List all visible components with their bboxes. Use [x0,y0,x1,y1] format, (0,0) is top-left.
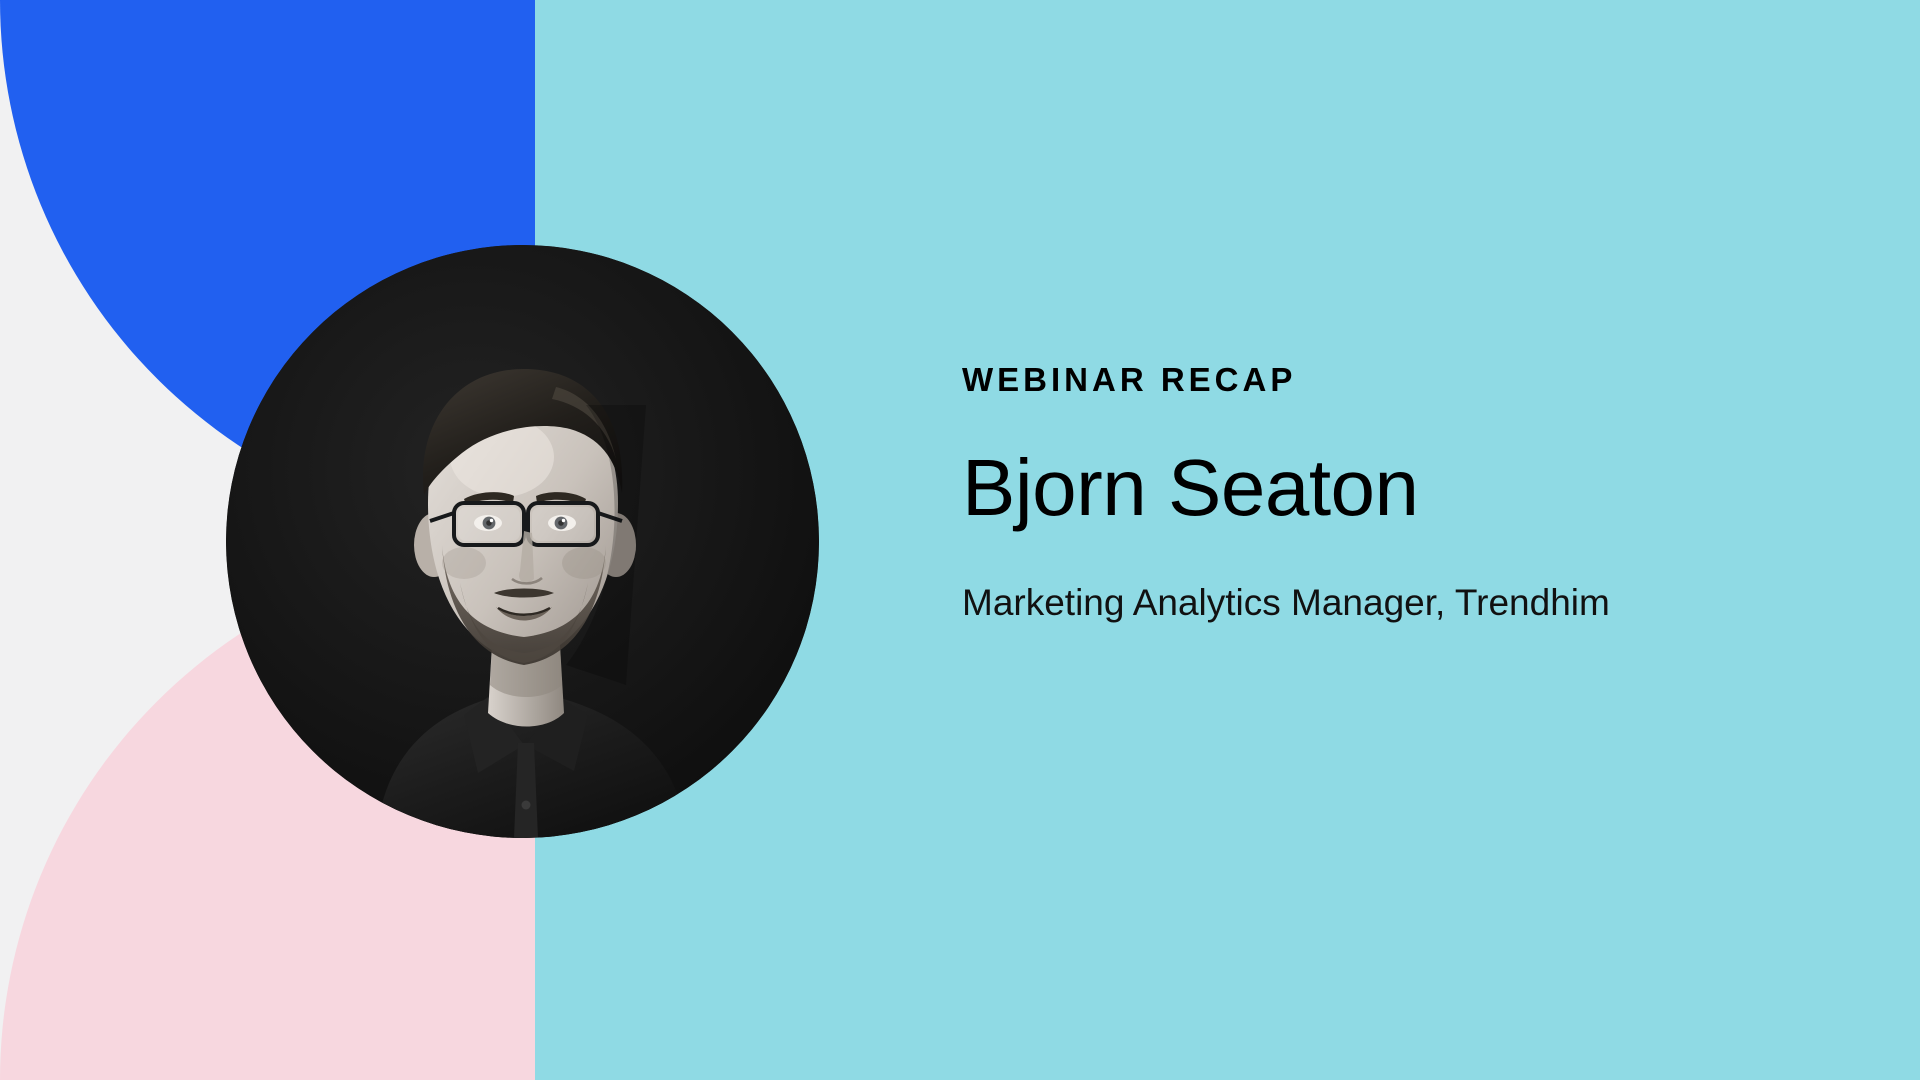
speaker-portrait-avatar [226,245,819,838]
speaker-name: Bjorn Seaton [962,446,1822,530]
speaker-role: Marketing Analytics Manager, Trendhim [962,580,1822,626]
eyebrow-label: WEBINAR RECAP [962,360,1822,400]
speaker-card-slide: WEBINAR RECAP Bjorn Seaton Marketing Ana… [0,0,1920,1080]
speaker-text-block: WEBINAR RECAP Bjorn Seaton Marketing Ana… [962,360,1822,626]
portrait-photo [226,245,819,838]
